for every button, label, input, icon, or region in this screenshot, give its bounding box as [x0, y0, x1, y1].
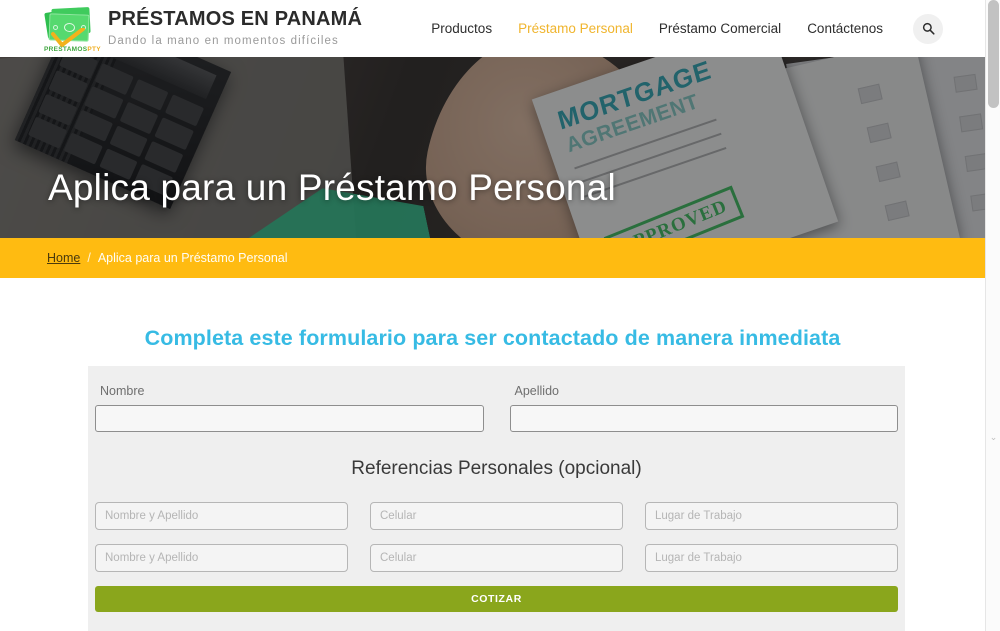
brand-tagline: Dando la mano en momentos difíciles [108, 36, 362, 48]
breadcrumb-bar: Home / Aplica para un Préstamo Personal [0, 238, 985, 278]
apellido-field-group: Apellido [510, 384, 899, 432]
reference-2-phone-input[interactable] [370, 544, 623, 572]
nombre-field-group: Nombre [95, 384, 484, 432]
form-heading: Completa este formulario para ser contac… [0, 326, 985, 351]
nombre-label: Nombre [100, 384, 484, 398]
logo-wordmark-main: PRESTAMOS [44, 46, 87, 53]
reference-row-2 [88, 544, 905, 572]
check-icon [51, 28, 85, 48]
hero-banner: MORTGAGE AGREEMENT APPROVED Aplica para … [0, 57, 985, 238]
apellido-input[interactable] [510, 405, 899, 432]
reference-row-1 [88, 502, 905, 530]
scroll-down-arrow-icon[interactable]: ⌄ [986, 430, 1000, 445]
name-fields-row: Nombre Apellido [88, 384, 905, 432]
nav-item-productos[interactable]: Productos [431, 21, 492, 36]
cotizar-submit-button[interactable]: COTIZAR [95, 586, 898, 612]
reference-1-workplace-input[interactable] [645, 502, 898, 530]
site-header: PRESTAMOSPTY PRÉSTAMOS EN PANAMÁ Dando l… [0, 0, 985, 57]
page-root: PRESTAMOSPTY PRÉSTAMOS EN PANAMÁ Dando l… [0, 0, 1000, 631]
references-heading: Referencias Personales (opcional) [88, 458, 905, 480]
nav-item-prestamo-comercial[interactable]: Préstamo Comercial [659, 21, 781, 36]
application-form-panel: Nombre Apellido Referencias Personales (… [88, 366, 905, 631]
scrollbar-thumb[interactable] [988, 0, 999, 108]
page-title: PRÉSTAMOS EN PANAMÁ [108, 9, 362, 29]
brand-logo-area[interactable]: PRESTAMOSPTY PRÉSTAMOS EN PANAMÁ Dando l… [40, 4, 362, 54]
nombre-input[interactable] [95, 405, 484, 432]
breadcrumb: Home / Aplica para un Préstamo Personal [47, 251, 288, 265]
vertical-scrollbar[interactable]: ⌄ [985, 0, 1000, 631]
nav-item-contactenos[interactable]: Contáctenos [807, 21, 883, 36]
breadcrumb-current: Aplica para un Préstamo Personal [98, 251, 288, 265]
hero-overlay [0, 57, 985, 238]
search-icon [922, 22, 935, 35]
search-button[interactable] [913, 14, 943, 44]
reference-2-workplace-input[interactable] [645, 544, 898, 572]
main-navigation: Productos Préstamo Personal Préstamo Com… [431, 14, 943, 44]
main-content: Completa este formulario para ser contac… [0, 278, 985, 631]
apellido-label: Apellido [515, 384, 899, 398]
reference-1-name-input[interactable] [95, 502, 348, 530]
breadcrumb-home-link[interactable]: Home [47, 251, 80, 265]
logo-wordmark: PRESTAMOSPTY [44, 46, 96, 53]
nav-item-prestamo-personal[interactable]: Préstamo Personal [518, 21, 633, 36]
breadcrumb-separator: / [87, 251, 90, 265]
logo-wordmark-suffix: PTY [87, 46, 101, 53]
hero-title: Aplica para un Préstamo Personal [48, 167, 616, 209]
money-stack-check-logo-icon: PRESTAMOSPTY [40, 4, 96, 54]
reference-2-name-input[interactable] [95, 544, 348, 572]
reference-1-phone-input[interactable] [370, 502, 623, 530]
